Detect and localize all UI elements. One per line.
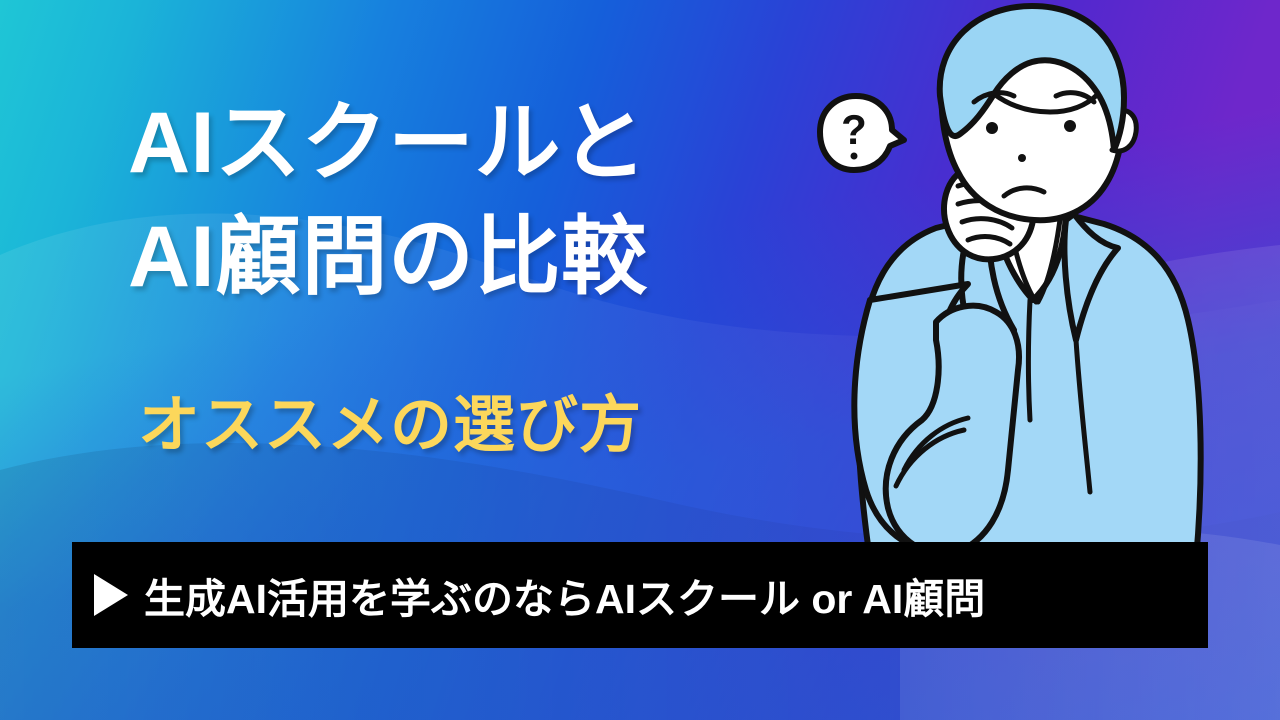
subtitle: オススメの選び方 <box>138 386 642 466</box>
youtube-thumbnail: ? AIスクールと AI顧問の比較 オススメの選び方 生成AI活用を学ぶのならA… <box>0 0 1280 720</box>
svg-text:?: ? <box>841 106 867 153</box>
title-line-1: AIスクールと <box>128 86 828 200</box>
thinking-businessman-illustration <box>818 0 1238 560</box>
bottom-banner-text: 生成AI活用を学ぶのならAIスクール or AI顧問 <box>144 565 985 625</box>
title-line-2: AI顧問の比較 <box>128 200 828 314</box>
bottom-banner: 生成AI活用を学ぶのならAIスクール or AI顧問 <box>72 542 1208 648</box>
play-triangle-icon <box>94 574 128 616</box>
title-block: AIスクールと AI顧問の比較 <box>128 86 828 314</box>
